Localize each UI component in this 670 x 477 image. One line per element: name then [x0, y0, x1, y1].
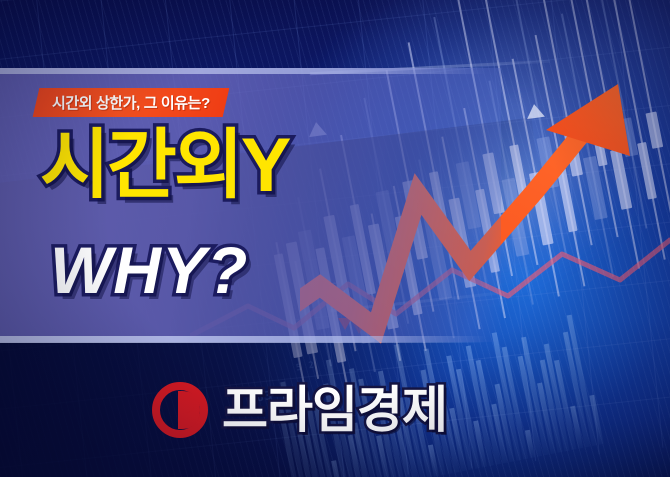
headline-secondary: WHY?: [50, 237, 248, 303]
panel-top-edge: [0, 68, 486, 74]
publisher-logo: 프라임경제: [152, 382, 447, 438]
thumbnail-canvas: 986 663 5 2 시간외 상한가, 그 이유는? 시간외Y WHY?: [0, 0, 670, 477]
publisher-name: 프라임경제: [222, 385, 447, 435]
panel-bottom-edge: [0, 336, 486, 343]
subtitle-banner: 시간외 상한가, 그 이유는?: [33, 88, 230, 117]
prime-economy-circle-p-mark-icon: [152, 382, 208, 438]
headline-primary: 시간외Y: [40, 130, 288, 202]
subtitle-banner-label: 시간외 상한가, 그 이유는?: [52, 92, 210, 113]
